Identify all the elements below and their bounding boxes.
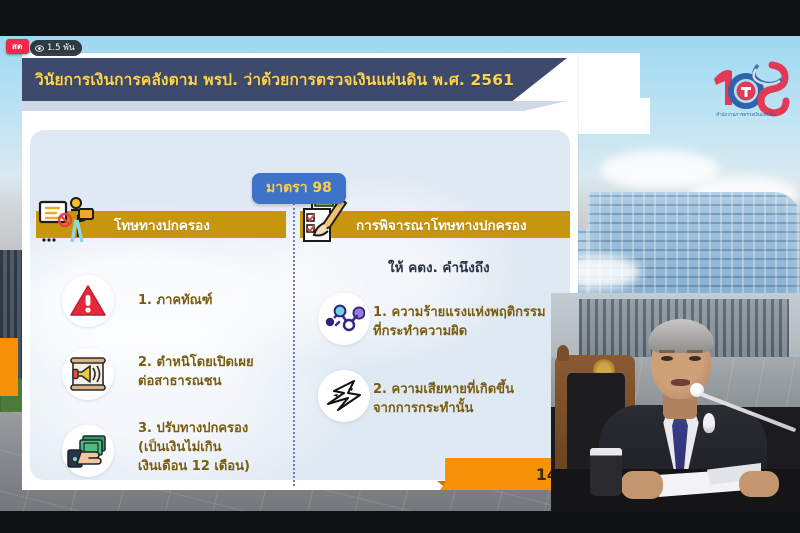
speaker-eye-left (661, 356, 673, 361)
speaker-video-inset[interactable] (551, 293, 800, 512)
player-bottom-letterbox (0, 511, 800, 533)
eye-icon (35, 44, 44, 53)
viewer-count-pill[interactable]: 1.5 พัน (30, 40, 82, 56)
column-header-left-label: โทษทางปกครอง (114, 214, 210, 236)
speaker-hand-left (621, 471, 663, 499)
section-badge: มาตรา 98 (252, 173, 346, 204)
lightning-damage-icon (318, 370, 370, 422)
player-top-letterbox (0, 0, 800, 36)
speaker-lapel-pin (703, 413, 715, 433)
left-item-3-text: 3. ปรับทางปกครอง (เป็นเงินไม่เกิน เงินเด… (138, 419, 250, 476)
slide-title-underband (22, 101, 567, 111)
coffee-cup (590, 448, 622, 496)
speaker-eyebrow-right (687, 350, 703, 353)
svg-text:สำนักงานการตรวจเงินแผ่นดิน: สำนักงานการตรวจเงินแผ่นดิน (716, 111, 777, 117)
right-item-1-text: 1. ความร้ายแรงแห่งพฤติกรรม ที่กระทำความผ… (373, 303, 546, 341)
page-title: วินัยการเงินการคลังตาม พรป. ว่าด้วยการตร… (22, 67, 514, 92)
hand-money-icon (62, 425, 114, 477)
live-badge[interactable]: สด (6, 39, 29, 54)
viewer-count: 1.5 พัน (47, 42, 75, 54)
speaker-eye-right (689, 356, 701, 361)
column-divider (293, 203, 295, 486)
megaphone-scroll-icon (62, 348, 114, 400)
column-header-right-label: การพิจารณาโทษทางปกครอง (356, 214, 527, 236)
speaker-hand-right (739, 471, 779, 497)
page-tab-fragment (0, 338, 18, 396)
presenter-board-icon (38, 196, 96, 244)
page-number-tab: 14 (440, 458, 566, 490)
stream-viewport: วินัยการเงินการคลังตาม พรป. ว่าด้วยการตร… (0, 0, 800, 533)
slide-title-bar: วินัยการเงินการคลังตาม พรป. ว่าด้วยการตร… (22, 58, 567, 101)
warning-triangle-icon (62, 275, 114, 327)
chair-knob (557, 345, 569, 361)
left-item-2-text: 2. ตำหนิโดยเปิดเผย ต่อสาธารณชน (138, 353, 254, 391)
network-nodes-icon (318, 293, 370, 345)
right-item-2-text: 2. ความเสียหายที่เกิดขึ้น จากการกระทำนั้… (373, 380, 514, 418)
left-item-1-text: 1. ภาคทัณฑ์ (138, 291, 213, 310)
anniversary-108-logo: สำนักงานการตรวจเงินแผ่นดิน (700, 57, 792, 123)
right-column-subtitle: ให้ คตง. คำนึงถึง (388, 256, 490, 278)
speaker-eyebrow-left (659, 350, 675, 353)
speaker-mouth (671, 379, 690, 386)
microphone-head (690, 383, 704, 397)
